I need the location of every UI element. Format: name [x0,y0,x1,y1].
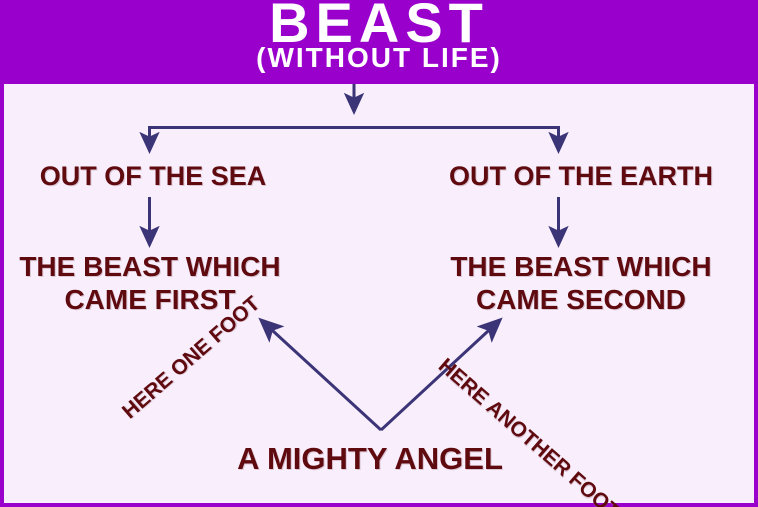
page-subtitle: (WITHOUT LIFE) [0,43,758,73]
node-out-of-the-sea: OUT OF THE SEA [8,160,298,192]
beast-diagram: BEAST (WITHOUT LIFE) OUT O [0,0,758,507]
node-out-of-the-earth: OUT OF THE EARTH [418,160,744,192]
node-a-mighty-angel: A MIGHTY ANGEL [170,441,570,477]
node-beast-came-second: THE BEAST WHICH CAME SECOND [418,250,744,316]
diagram-header-banner: BEAST (WITHOUT LIFE) [0,0,758,84]
